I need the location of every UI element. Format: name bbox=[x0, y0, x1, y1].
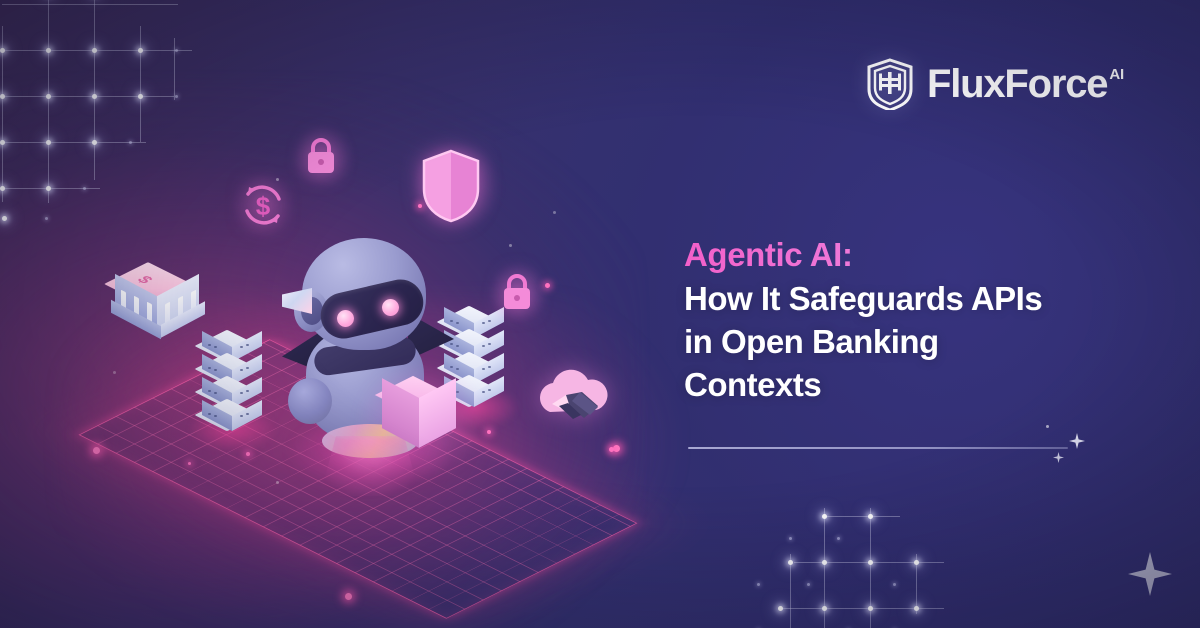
social-share-banner: $ bbox=[0, 0, 1200, 628]
vignette-overlay bbox=[0, 0, 1200, 628]
